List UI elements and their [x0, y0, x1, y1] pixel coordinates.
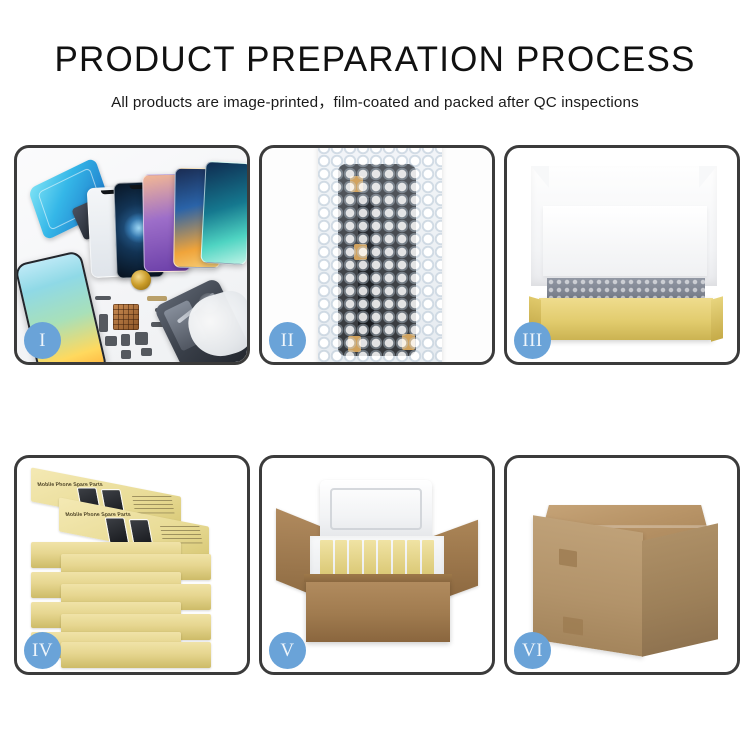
step-badge-1: I [24, 322, 61, 359]
page-title: PRODUCT PREPARATION PROCESS [0, 0, 750, 79]
process-step-panel-1: I [14, 145, 250, 365]
process-step-panel-2: II [259, 145, 495, 365]
box-stack: Mobile Phone Spare Parts Mobile Phone Sp… [31, 480, 237, 666]
box-spec-lines [159, 523, 202, 543]
carton-tape-upper [559, 549, 577, 568]
process-step-panel-6: VI [504, 455, 740, 675]
vibrator-part [105, 336, 117, 346]
carton-tape-lower [563, 616, 583, 635]
box-screen-graphic [105, 517, 130, 543]
step-badge-3: III [514, 322, 551, 359]
yellow-box-base [539, 298, 713, 340]
phone-screen-teal [200, 161, 247, 265]
carton-right-face [642, 523, 718, 657]
antenna-part [147, 296, 167, 301]
button-part [141, 348, 152, 356]
step-badge-2: II [269, 322, 306, 359]
step-badge-6: VI [514, 632, 551, 669]
process-step-panel-5: V [259, 455, 495, 675]
box-spec-lines [131, 493, 174, 513]
process-step-panel-4: Mobile Phone Spare Parts Mobile Phone Sp… [14, 455, 250, 675]
process-step-panel-3: III [504, 145, 740, 365]
phone-screen-fan [89, 162, 247, 278]
screw-part [121, 350, 131, 359]
process-steps-grid: I II [14, 145, 740, 690]
step-badge-4: IV [24, 632, 61, 669]
bubble-wrap-overlay [318, 148, 442, 362]
bracket-part [99, 314, 108, 332]
foam-case-lid [320, 480, 432, 542]
header: PRODUCT PREPARATION PROCESS All products… [0, 0, 750, 112]
speaker-coil-part [131, 270, 151, 290]
copper-shield-part [113, 304, 139, 330]
flex-cable-part [95, 296, 111, 300]
sensor-part [135, 332, 148, 345]
box-lid-front [543, 206, 707, 276]
page-subtitle: All products are image-printed，film-coat… [0, 79, 750, 112]
carton-front-face [306, 580, 450, 642]
product-preparation-infographic: PRODUCT PREPARATION PROCESS All products… [0, 0, 750, 750]
carton-left-face [533, 515, 643, 656]
step-badge-5: V [269, 632, 306, 669]
camera-part [121, 334, 130, 346]
stacked-box [61, 642, 211, 668]
